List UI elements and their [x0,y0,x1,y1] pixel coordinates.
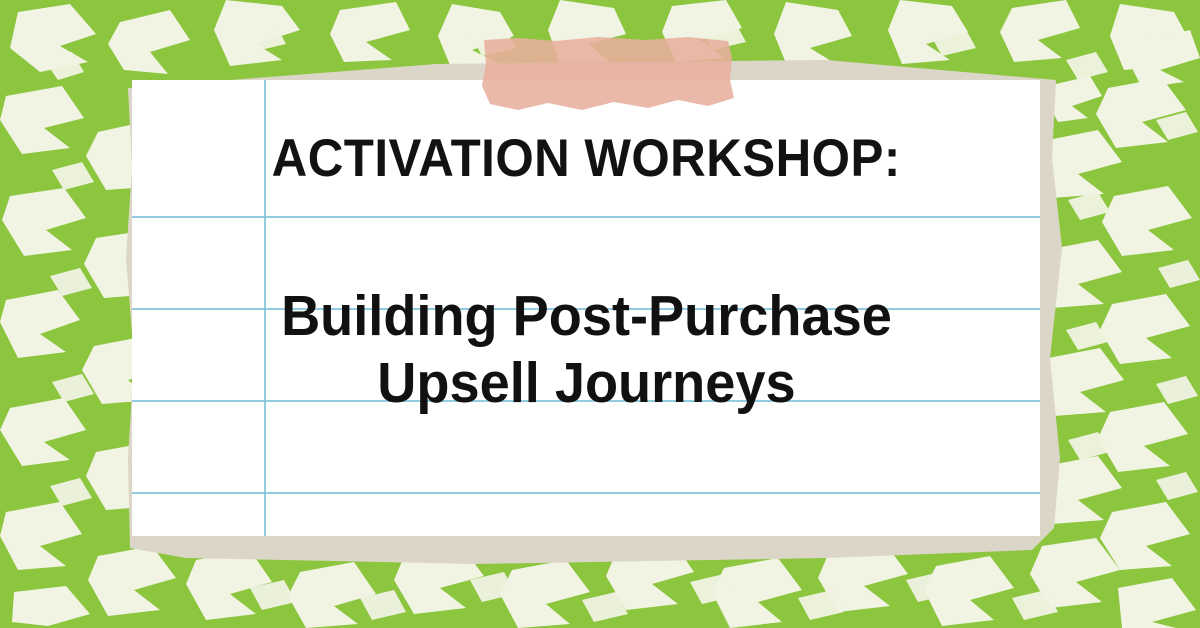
paper-rule-line-4 [132,492,1040,494]
paper-rule-line-2 [132,308,1040,310]
social-card-canvas: ACTIVATION WORKSHOP: Building Post-Purch… [0,0,1200,628]
vertical-margin-rule [264,80,266,536]
paper-rule-line-1 [132,216,1040,218]
washi-tape [478,36,736,116]
paper-rule-line-3 [132,400,1040,402]
notebook-paper [132,80,1040,536]
